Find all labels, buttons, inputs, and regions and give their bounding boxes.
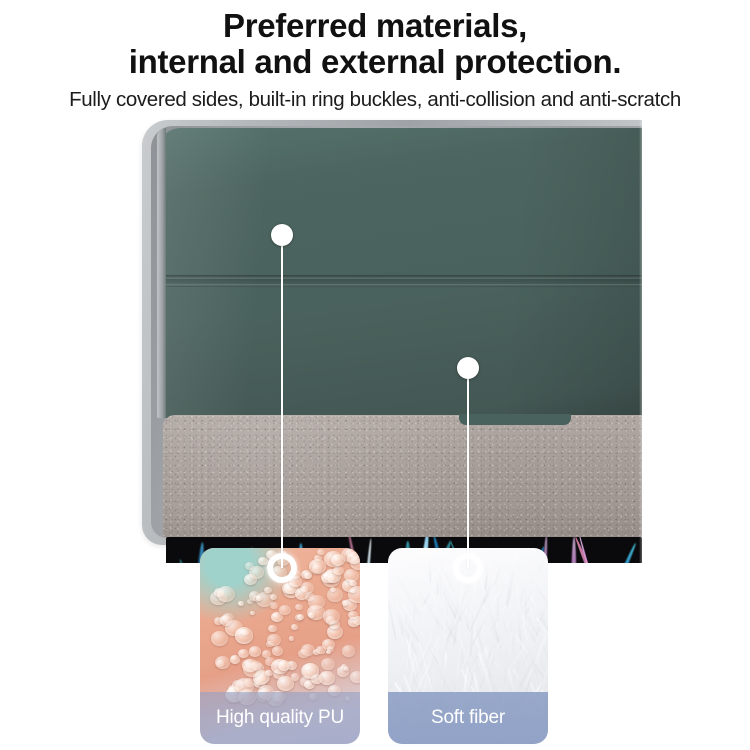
pu-pellet: [316, 646, 326, 655]
pu-pellet: [215, 656, 230, 669]
case-interior-lining: [163, 415, 642, 537]
headline-line-1: Preferred materials,: [0, 0, 750, 43]
pu-pellet: [347, 552, 360, 564]
pu-pellet: [277, 556, 289, 566]
headline-block: Preferred materials, internal and extern…: [0, 0, 750, 112]
pu-pellet: [327, 574, 338, 584]
photo-crop-area: [0, 118, 642, 563]
pu-pellet: [331, 554, 345, 566]
lining-ring-buckle-notch: [459, 414, 571, 425]
lining-grain-texture: [163, 415, 642, 537]
wallpaper-ribbon: [362, 538, 373, 563]
headline-line-2: internal and external protection.: [0, 43, 750, 79]
cover-shading: [157, 128, 642, 418]
pu-label-bar: High quality PU: [200, 692, 360, 744]
pu-pellet: [295, 588, 309, 600]
pu-pellet: [289, 569, 301, 579]
fiber-label-text: Soft fiber: [431, 707, 505, 729]
pu-pellet: [350, 589, 355, 594]
pu-pellet: [297, 614, 304, 620]
pu-pellet: [268, 625, 277, 632]
product-marketing-image: Preferred materials, internal and extern…: [0, 0, 750, 750]
pu-pellet: [256, 595, 262, 600]
pu-pellet: [304, 572, 312, 579]
pu-pellet: [267, 634, 281, 646]
pu-pellet: [249, 646, 261, 656]
fiber-strand: [439, 552, 441, 600]
pu-pellet: [238, 601, 244, 606]
photo-right-fade: [600, 118, 750, 563]
fiber-strand: [443, 614, 445, 690]
pu-pellet: [348, 611, 358, 620]
cover-fold-lip: [157, 279, 642, 286]
pu-pellet: [266, 550, 277, 560]
pu-pellet: [250, 611, 255, 616]
fiber-strand: [436, 568, 439, 595]
pu-pellet: [333, 566, 344, 575]
pu-pellet: [281, 551, 288, 557]
pu-pellet: [308, 612, 315, 618]
case-front-cover: [157, 128, 642, 418]
pu-pellet: [344, 666, 349, 671]
material-swatch-fiber: Soft fiber: [388, 548, 548, 744]
pu-pellet: [271, 566, 286, 579]
pu-pellet: [342, 600, 348, 605]
pu-pellet: [326, 650, 331, 655]
pu-pellet: [350, 671, 360, 683]
cover-left-rim: [157, 128, 166, 418]
pu-pellet: [258, 557, 268, 565]
pu-pellet: [270, 594, 277, 600]
pu-pellet: [291, 624, 298, 630]
pu-pellet: [278, 660, 290, 671]
pu-pellet: [301, 663, 320, 679]
pu-pellet: [243, 662, 261, 677]
pu-pellet: [342, 645, 355, 656]
pu-pellet: [289, 636, 294, 641]
pu-pellet: [317, 549, 325, 556]
pu-pellet: [217, 586, 235, 601]
pu-pellet: [295, 604, 303, 610]
pu-pellet: [298, 649, 309, 659]
pu-pellet: [244, 574, 257, 585]
pu-pellet: [312, 564, 322, 573]
pu-pellet: [321, 658, 335, 670]
wallpaper-ribbon: [177, 559, 198, 563]
pu-pellet: [211, 631, 228, 645]
fiber-label-bar: Soft fiber: [388, 692, 548, 744]
product-photo: [0, 118, 750, 563]
fiber-strand: [537, 552, 548, 574]
pu-pellet: [235, 627, 254, 643]
pu-pellet: [277, 676, 295, 691]
headline-subtitle: Fully covered sides, built-in ring buckl…: [0, 78, 750, 112]
pu-pellet: [264, 587, 272, 593]
pu-pellet: [279, 605, 291, 615]
pu-pellet: [238, 649, 249, 659]
pu-pellet: [323, 609, 341, 624]
pu-label-text: High quality PU: [216, 707, 344, 729]
pu-pellet: [272, 646, 283, 655]
material-swatch-pu: High quality PU: [200, 548, 360, 744]
pu-pellet: [230, 655, 240, 663]
pu-pellet: [220, 615, 233, 626]
